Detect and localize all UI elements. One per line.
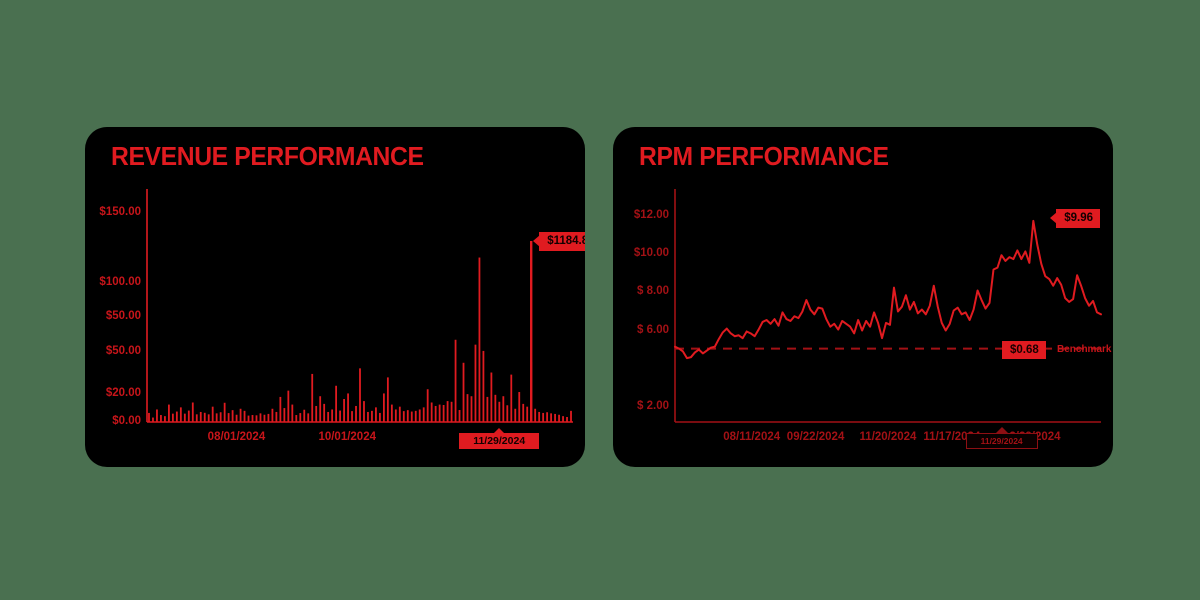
revenue-value-annotation[interactable]: $1184.89: [539, 232, 585, 251]
bar[interactable]: [479, 258, 481, 422]
bar[interactable]: [395, 409, 397, 422]
bar[interactable]: [343, 399, 345, 422]
bar[interactable]: [483, 351, 485, 422]
bar[interactable]: [204, 413, 206, 422]
bar[interactable]: [471, 396, 473, 422]
bar[interactable]: [272, 409, 274, 422]
bar[interactable]: [387, 377, 389, 422]
bar[interactable]: [279, 397, 281, 422]
bar[interactable]: [411, 412, 413, 422]
bar[interactable]: [546, 412, 548, 422]
benchmark-series-label: Benchmark: [1057, 344, 1111, 355]
bar[interactable]: [359, 368, 361, 422]
bar[interactable]: [188, 411, 190, 422]
rpm-line-plot-svg: [613, 127, 1113, 467]
bar[interactable]: [554, 414, 556, 422]
bar[interactable]: [423, 407, 425, 422]
x-axis-highlight-marker[interactable]: 11/29/2024: [459, 433, 539, 449]
y-axis-tick-label: $ 8.00: [613, 285, 669, 297]
bar[interactable]: [522, 404, 524, 422]
bar[interactable]: [518, 392, 520, 422]
bar[interactable]: [212, 407, 214, 422]
bar[interactable]: [224, 403, 226, 422]
rpm-performance-card[interactable]: RPM PERFORMANCE $12.00$10.00$ 8.00$ 6.00…: [613, 127, 1113, 467]
bar[interactable]: [339, 411, 341, 422]
bar[interactable]: [291, 405, 293, 422]
y-axis-tick-label: $12.00: [613, 209, 669, 221]
bar[interactable]: [419, 409, 421, 422]
bar[interactable]: [467, 394, 469, 422]
x-axis-highlight-marker[interactable]: 11/29/2024: [966, 433, 1038, 449]
bar[interactable]: [514, 409, 516, 422]
bar[interactable]: [184, 414, 186, 422]
bar[interactable]: [315, 406, 317, 422]
bar[interactable]: [244, 411, 246, 422]
bar[interactable]: [208, 414, 210, 422]
bar[interactable]: [335, 386, 337, 422]
bar[interactable]: [148, 413, 150, 422]
dashboard-stage: REVENUE PERFORMANCE $150.00$100.00$50.00…: [0, 0, 1200, 600]
bar[interactable]: [164, 416, 166, 422]
bar[interactable]: [268, 414, 270, 422]
bar[interactable]: [319, 396, 321, 422]
bar[interactable]: [172, 414, 174, 422]
bar[interactable]: [236, 415, 238, 422]
bar[interactable]: [252, 415, 254, 422]
bar[interactable]: [451, 402, 453, 422]
y-axis-tick-label: $20.00: [85, 387, 141, 399]
bar[interactable]: [534, 409, 536, 422]
y-axis-tick-label: $ 6.00: [613, 324, 669, 336]
bar[interactable]: [351, 411, 353, 422]
bar[interactable]: [216, 413, 218, 422]
bar[interactable]: [542, 413, 544, 422]
bar[interactable]: [355, 406, 357, 422]
bar[interactable]: [506, 405, 508, 422]
bar[interactable]: [526, 407, 528, 422]
bar[interactable]: [307, 413, 309, 422]
bar[interactable]: [152, 418, 154, 422]
x-axis-tick-label: 08/01/2024: [176, 431, 296, 443]
bar[interactable]: [459, 410, 461, 422]
bar[interactable]: [192, 402, 194, 422]
y-axis-tick-label: $0.00: [85, 415, 141, 427]
bar[interactable]: [311, 374, 313, 422]
bar[interactable]: [331, 409, 333, 422]
bar[interactable]: [375, 407, 377, 422]
bar[interactable]: [176, 412, 178, 422]
revenue-bar-plot-svg: [85, 127, 585, 467]
bar[interactable]: [240, 409, 242, 422]
bar[interactable]: [439, 405, 441, 422]
bar[interactable]: [200, 412, 202, 422]
bar[interactable]: [570, 411, 572, 422]
bar[interactable]: [264, 415, 266, 422]
revenue-bar-chart[interactable]: $150.00$100.00$50.00$50.00$20.00$0.0008/…: [85, 127, 585, 467]
bar[interactable]: [407, 410, 409, 422]
bar[interactable]: [379, 413, 381, 422]
bar[interactable]: [248, 416, 250, 422]
y-axis-tick-label: $50.00: [85, 345, 141, 357]
bar[interactable]: [427, 389, 429, 422]
bar[interactable]: [275, 412, 277, 422]
bar[interactable]: [558, 415, 560, 422]
bar[interactable]: [367, 412, 369, 422]
rpm-series-line[interactable]: [675, 221, 1101, 358]
y-axis-tick-label: $10.00: [613, 247, 669, 259]
bar[interactable]: [323, 404, 325, 422]
bar[interactable]: [168, 405, 170, 422]
bar[interactable]: [220, 412, 222, 422]
bar[interactable]: [399, 407, 401, 422]
benchmark-value-badge[interactable]: $0.68: [1002, 341, 1046, 360]
bar[interactable]: [455, 340, 457, 422]
bar[interactable]: [502, 396, 504, 422]
bar[interactable]: [415, 411, 417, 422]
x-axis-tick-label: 10/01/2024: [287, 431, 407, 443]
bar[interactable]: [347, 393, 349, 422]
bar[interactable]: [391, 405, 393, 422]
bar[interactable]: [443, 405, 445, 422]
bar[interactable]: [463, 363, 465, 422]
y-axis-tick-label: $100.00: [85, 276, 141, 288]
y-axis-tick-label: $ 2.00: [613, 400, 669, 412]
bar[interactable]: [490, 373, 492, 422]
bar[interactable]: [447, 401, 449, 422]
bar[interactable]: [510, 375, 512, 422]
rpm-peak-annotation[interactable]: $9.96: [1056, 209, 1100, 228]
bar[interactable]: [403, 411, 405, 422]
bar[interactable]: [260, 413, 262, 422]
bar[interactable]: [196, 414, 198, 422]
bar[interactable]: [256, 415, 258, 422]
bar[interactable]: [299, 413, 301, 422]
bar[interactable]: [498, 402, 500, 422]
bar[interactable]: [538, 412, 540, 422]
bar[interactable]: [487, 397, 489, 422]
y-axis-tick-label: $50.00: [85, 310, 141, 322]
rpm-line-chart[interactable]: $12.00$10.00$ 8.00$ 6.00$ 2.0008/11/2024…: [613, 127, 1113, 467]
bar[interactable]: [562, 416, 564, 422]
bar[interactable]: [232, 410, 234, 422]
bar[interactable]: [228, 413, 230, 422]
revenue-performance-card[interactable]: REVENUE PERFORMANCE $150.00$100.00$50.00…: [85, 127, 585, 467]
bar[interactable]: [156, 409, 158, 422]
bar[interactable]: [363, 401, 365, 422]
bar[interactable]: [566, 417, 568, 422]
bar[interactable]: [431, 402, 433, 422]
bar[interactable]: [180, 407, 182, 422]
y-axis-tick-label: $150.00: [85, 206, 141, 218]
bar[interactable]: [283, 408, 285, 422]
bar[interactable]: [371, 411, 373, 422]
bar[interactable]: [287, 391, 289, 422]
bar[interactable]: [303, 410, 305, 422]
bar[interactable]: [494, 395, 496, 422]
bar[interactable]: [160, 415, 162, 422]
bar[interactable]: [327, 412, 329, 422]
bar[interactable]: [435, 406, 437, 422]
bar[interactable]: [475, 345, 477, 422]
bar[interactable]: [383, 393, 385, 422]
bar[interactable]: [550, 413, 552, 422]
bar[interactable]: [295, 415, 297, 422]
